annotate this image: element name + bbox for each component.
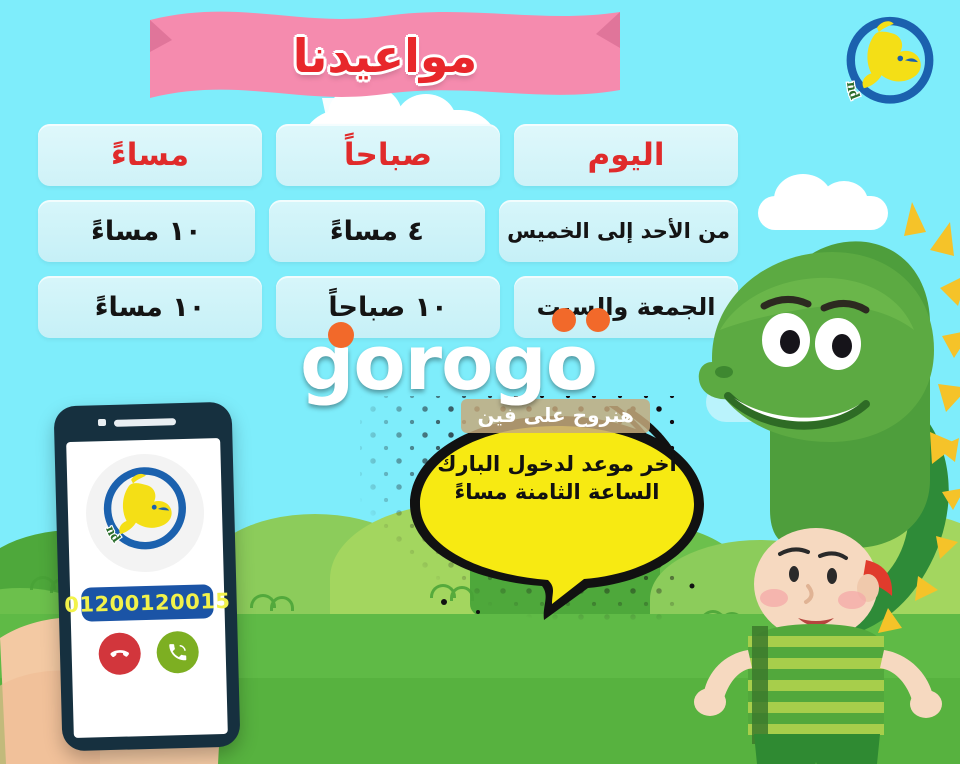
table-cell-day-value: الجمعة والسبت xyxy=(537,295,716,319)
call-accept-glyph xyxy=(166,641,189,664)
table-cell-morning-value: ١٠ صباحاً xyxy=(328,294,447,321)
table-header-evening: مساءً xyxy=(38,124,262,186)
table-row: من الأحد إلى الخميس ٤ مساءً ١٠ مساءً xyxy=(38,200,738,262)
table-header-morning-label: صباحاً xyxy=(344,140,432,171)
table-header-evening-label: مساءً xyxy=(111,140,189,171)
characters-illustration xyxy=(690,180,960,764)
table-cell-evening: ١٠ مساءً xyxy=(38,200,255,262)
phone-hangup-icon[interactable] xyxy=(98,632,141,675)
table-cell-morning: ٤ مساءً xyxy=(269,200,486,262)
speech-bubble-text: أخر موعد لدخول البارك الساعة الثامنة مسا… xyxy=(426,450,688,506)
speech-bubble-line-2: الساعة الثامنة مساءً xyxy=(426,478,688,506)
table-header-morning: صباحاً xyxy=(276,124,500,186)
call-decline-glyph xyxy=(108,642,131,665)
speech-bubble-line-1: أخر موعد لدخول البارك xyxy=(426,450,688,478)
table-header-day-label: اليوم xyxy=(587,140,664,171)
phone-number-badge[interactable]: 01200120015 xyxy=(81,584,214,621)
call-buttons-row xyxy=(98,631,199,676)
table-cell-morning: ١٠ صباحاً xyxy=(276,276,500,338)
dragon-island-logo[interactable]: Dragon Island xyxy=(834,8,946,120)
table-header-row: اليوم صباحاً مساءً xyxy=(38,124,738,186)
phone-mockup: Dragon Island 01200120015 xyxy=(58,404,236,749)
table-cell-evening: ١٠ مساءً xyxy=(38,276,262,338)
table-cell-evening-value: ١٠ مساءً xyxy=(95,294,206,321)
poster-canvas: مواعيدنا اليوم صباحاً مساءً من الأحد إلى… xyxy=(0,0,960,764)
speech-bubble: أخر موعد لدخول البارك الساعة الثامنة مسا… xyxy=(392,406,722,626)
table-cell-evening-value: ١٠ مساءً xyxy=(91,218,202,245)
phone-camera-icon xyxy=(98,419,106,426)
dragon-logo-icon: Dragon Island xyxy=(88,456,203,571)
speech-bubble-shape xyxy=(392,406,722,626)
table-cell-morning-value: ٤ مساءً xyxy=(330,218,424,245)
phone-screen: Dragon Island 01200120015 xyxy=(66,438,228,738)
table-header-day: اليوم xyxy=(514,124,738,186)
phone-call-icon[interactable] xyxy=(156,631,199,674)
schedule-table: اليوم صباحاً مساءً من الأحد إلى الخميس ٤… xyxy=(38,124,738,352)
table-row: الجمعة والسبت ١٠ صباحاً ١٠ مساءً xyxy=(38,276,738,338)
phone-dragon-logo-icon: Dragon Island xyxy=(85,453,206,574)
